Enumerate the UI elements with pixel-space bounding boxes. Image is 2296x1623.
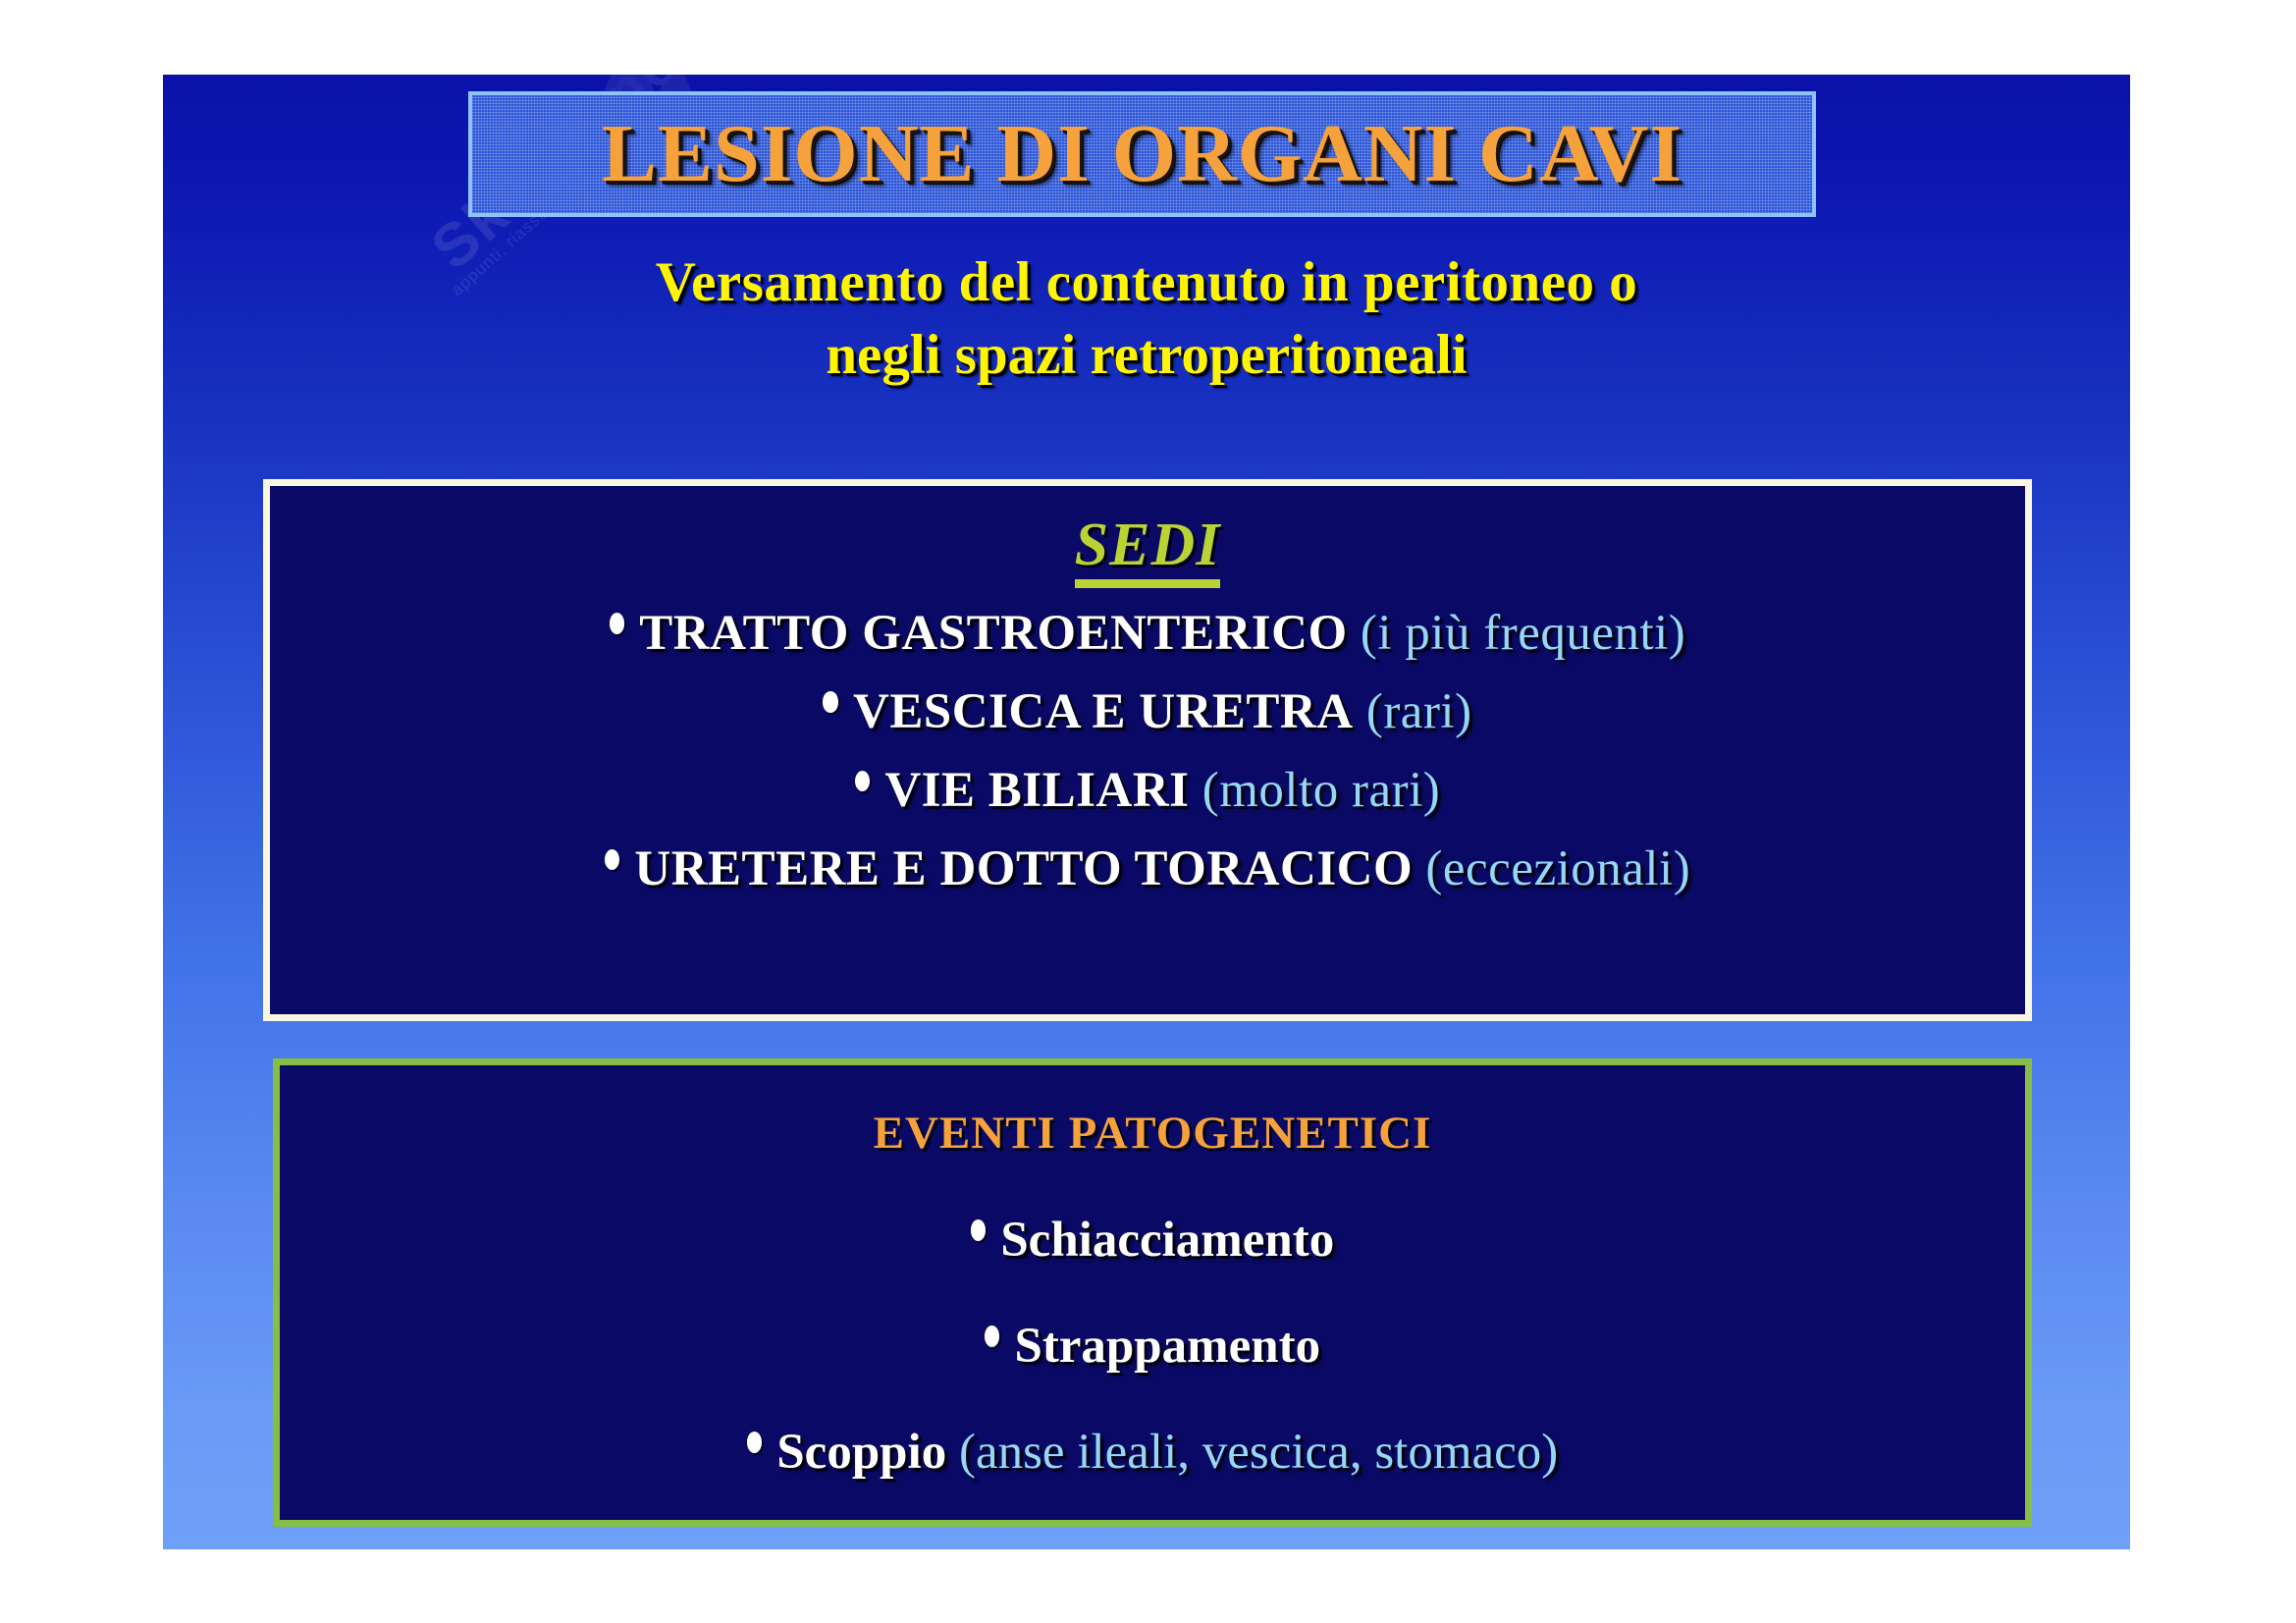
eventi-item-note: (anse ileali, vescica, stomaco) <box>959 1425 1558 1480</box>
sedi-heading-wrapper: SEDI <box>270 486 2025 588</box>
bullet-dot-icon <box>823 691 837 712</box>
list-item: Scoppio (anse ileali, vescica, stomaco) <box>280 1425 2025 1480</box>
sedi-panel: SEDI TRATTO GASTROENTERICO (i più freque… <box>263 479 2032 1021</box>
presentation-slide: Skuola.net appunti, riassunti e tesine L… <box>163 75 2130 1549</box>
list-item: Schiacciamento <box>280 1213 2025 1268</box>
slide-subtitle: Versamento del contenuto in peritoneo o … <box>163 246 2130 392</box>
bullet-dot-icon <box>971 1219 986 1240</box>
sedi-item-term: URETERE E DOTTO TORACICO <box>634 841 1413 896</box>
sedi-item-note: (i più frequenti) <box>1361 606 1685 661</box>
bullet-dot-icon <box>610 613 624 633</box>
sedi-item-term: TRATTO GASTROENTERICO <box>639 606 1347 661</box>
list-item: VESCICA E URETRA (rari) <box>270 684 2025 739</box>
sedi-bullet-list: TRATTO GASTROENTERICO (i più frequenti) … <box>270 606 2025 896</box>
slide-subtitle-line-2: negli spazi retroperitoneali <box>163 319 2130 392</box>
list-item: VIE BILIARI (molto rari) <box>270 763 2025 818</box>
slide-title: LESIONE DI ORGANI CAVI <box>602 113 1682 195</box>
sedi-item-note: (rari) <box>1366 684 1472 739</box>
sedi-item-term: VIE BILIARI <box>884 763 1189 818</box>
list-item: URETERE E DOTTO TORACICO (eccezionali) <box>270 841 2025 896</box>
bullet-dot-icon <box>985 1325 999 1346</box>
bullet-dot-icon <box>747 1432 762 1452</box>
eventi-patogenetici-panel: EVENTI PATOGENETICI Schiacciamento Strap… <box>273 1058 2032 1527</box>
slide-title-box: LESIONE DI ORGANI CAVI <box>468 91 1816 217</box>
eventi-item-term: Scoppio <box>776 1425 946 1480</box>
bullet-dot-icon <box>855 771 870 791</box>
eventi-bullet-list: Schiacciamento Strappamento Scoppio (ans… <box>280 1213 2025 1480</box>
sedi-item-term: VESCICA E URETRA <box>853 684 1354 739</box>
sedi-item-note: (molto rari) <box>1202 763 1441 818</box>
list-item: Strappamento <box>280 1319 2025 1374</box>
eventi-item-term: Schiacciamento <box>1000 1213 1334 1268</box>
sedi-item-note: (eccezionali) <box>1425 841 1690 896</box>
list-item: TRATTO GASTROENTERICO (i più frequenti) <box>270 606 2025 661</box>
sedi-heading: SEDI <box>1075 514 1221 588</box>
eventi-heading: EVENTI PATOGENETICI <box>280 1107 2025 1160</box>
eventi-item-term: Strappamento <box>1014 1319 1320 1374</box>
slide-subtitle-line-1: Versamento del contenuto in peritoneo o <box>163 246 2130 319</box>
bullet-dot-icon <box>605 849 619 870</box>
